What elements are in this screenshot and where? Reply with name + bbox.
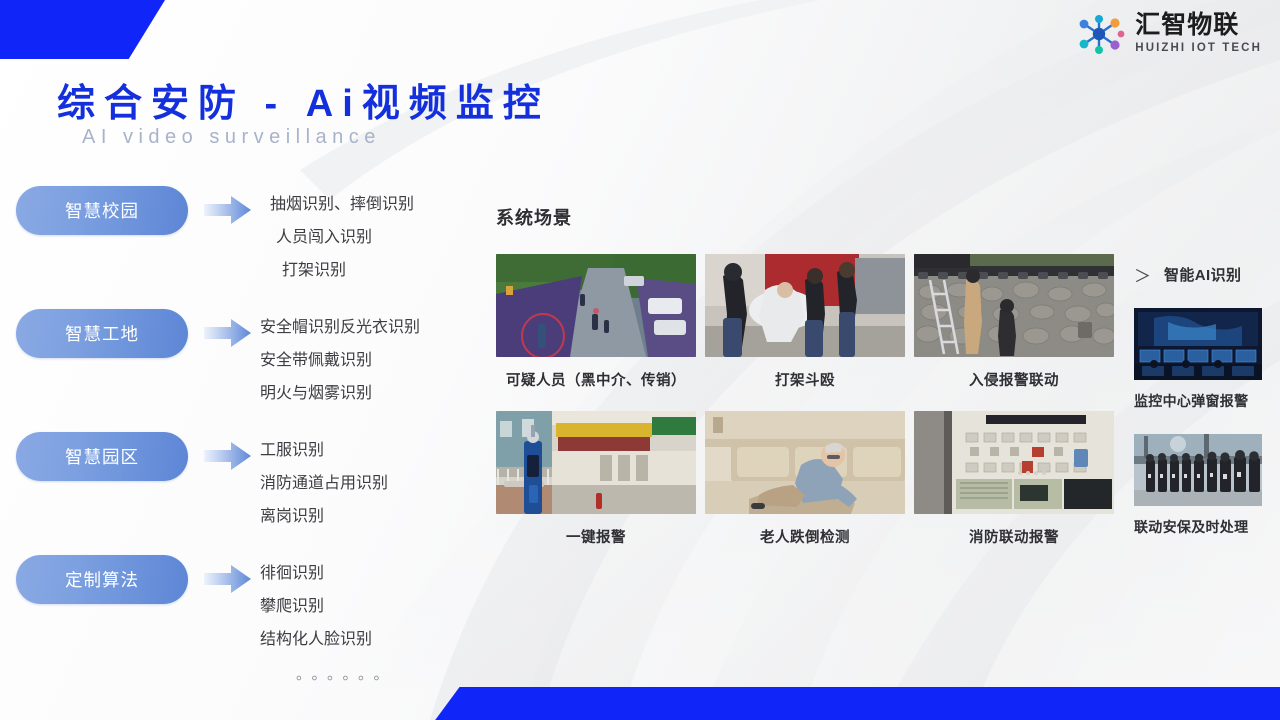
category-pill-smart-site[interactable]: 智慧工地 (16, 309, 188, 358)
category-items-smart-site: 安全帽识别反光衣识别 安全带佩戴识别 明火与烟雾识别 (260, 309, 420, 410)
elderly-fall-photo (705, 411, 905, 514)
logo-text-en: HUIZHI IOT TECH (1135, 43, 1262, 55)
category-items-smart-park: 工服识别 消防通道占用识别 离岗识别 (260, 432, 388, 533)
side-cell-security-response[interactable]: 联动安保及时处理 (1134, 434, 1262, 537)
scene-cell-suspicious-person[interactable]: 可疑人员（黑中介、传销） (496, 254, 696, 390)
security-guards-lineup-photo (1134, 434, 1262, 506)
list-item: 攀爬识别 (260, 590, 397, 623)
emergency-call-pillar-photo (496, 411, 696, 514)
category-items-custom-algorithm: 徘徊识别 攀爬识别 结构化人脸识别 。。。。。。 (260, 555, 397, 684)
ladder-wall-climb-photo (914, 254, 1114, 357)
street-fight-photo (705, 254, 905, 357)
category-group-smart-park: 智慧园区 工服识别 消防通道占用识别 离岗识别 (0, 432, 470, 555)
ai-recognition-tag: ＞ 智能AI识别 (1134, 262, 1241, 287)
page-title: 综合安防 - Ai视频监控 (57, 72, 550, 127)
list-item: 工服识别 (260, 434, 388, 467)
category-group-smart-site: 智慧工地 安全帽识别反光衣识别 安全带佩戴识别 明火与烟雾识别 (0, 309, 470, 432)
list-item: 人员闯入识别 (270, 221, 414, 254)
category-pill-custom-algorithm[interactable]: 定制算法 (16, 555, 188, 604)
side-caption: 监控中心弹窗报警 (1134, 391, 1262, 411)
scene-caption: 一键报警 (496, 526, 696, 547)
side-caption: 联动安保及时处理 (1134, 517, 1262, 537)
scene-caption: 打架斗殴 (705, 369, 905, 390)
brand-logo: 汇智物联 HUIZHI IOT TECH (1074, 12, 1262, 56)
list-item: 离岗识别 (260, 500, 388, 533)
scene-grid-row: 可疑人员（黑中介、传销） (496, 254, 1123, 390)
left-category-column: 智慧校园 抽烟识别、摔倒识别 人员闯入识别 打架识别 智慧工地 安全帽识别反光衣… (0, 186, 470, 684)
section-title-system-scenes: 系统场景 (496, 204, 572, 230)
side-cell-control-room-alarm[interactable]: 监控中心弹窗报警 (1134, 308, 1262, 411)
logo-text-cn: 汇智物联 (1135, 13, 1262, 38)
scene-caption: 入侵报警联动 (914, 369, 1114, 390)
category-group-custom-algorithm: 定制算法 徘徊识别 攀爬识别 结构化人脸识别 。。。。。。 (0, 555, 470, 684)
arrow-right-icon (204, 564, 252, 594)
arrow-right-icon (204, 195, 252, 225)
list-item: 打架识别 (270, 254, 414, 287)
scene-cell-intrusion-alarm[interactable]: 入侵报警联动 (914, 254, 1114, 390)
slide-root: 汇智物联 HUIZHI IOT TECH 综合安防 - Ai视频监控 AI vi… (0, 0, 1280, 720)
category-group-smart-campus: 智慧校园 抽烟识别、摔倒识别 人员闯入识别 打架识别 (0, 186, 470, 309)
scene-cell-fire-linkage-alarm[interactable]: 消防联动报警 (914, 411, 1114, 547)
molecule-network-icon (1074, 12, 1126, 56)
list-item: 抽烟识别、摔倒识别 (270, 188, 414, 221)
scene-cell-fighting[interactable]: 打架斗殴 (705, 254, 905, 390)
ai-recognition-label: 智能AI识别 (1164, 264, 1241, 285)
fire-control-panel-photo (914, 411, 1114, 514)
control-room-popup-alarm-photo (1134, 308, 1262, 380)
list-item: 安全带佩戴识别 (260, 344, 420, 377)
scene-caption: 老人跌倒检测 (705, 526, 905, 547)
scene-thumbnail-grid: 可疑人员（黑中介、传销） (496, 254, 1123, 547)
ellipsis-dots: 。。。。。。 (296, 663, 397, 684)
scene-cell-one-key-alarm[interactable]: 一键报警 (496, 411, 696, 547)
chevron-right-icon: ＞ (1134, 262, 1151, 287)
scene-grid-row: 一键报警 (496, 411, 1123, 547)
list-item: 消防通道占用识别 (260, 467, 388, 500)
list-item: 结构化人脸识别 (260, 623, 397, 656)
arrow-right-icon (204, 318, 252, 348)
category-pill-smart-campus[interactable]: 智慧校园 (16, 186, 188, 235)
list-item: 徘徊识别 (260, 557, 397, 590)
scene-caption: 可疑人员（黑中介、传销） (496, 369, 696, 390)
category-pill-smart-park[interactable]: 智慧园区 (16, 432, 188, 481)
page-subtitle: AI video surveillance (82, 126, 381, 149)
list-item: 安全帽识别反光衣识别 (260, 311, 420, 344)
category-items-smart-campus: 抽烟识别、摔倒识别 人员闯入识别 打架识别 (270, 186, 414, 287)
street-crowd-surveillance-photo (496, 254, 696, 357)
scene-cell-elderly-fall[interactable]: 老人跌倒检测 (705, 411, 905, 547)
scene-caption: 消防联动报警 (914, 526, 1114, 547)
list-item: 明火与烟雾识别 (260, 377, 420, 410)
arrow-right-icon (204, 441, 252, 471)
